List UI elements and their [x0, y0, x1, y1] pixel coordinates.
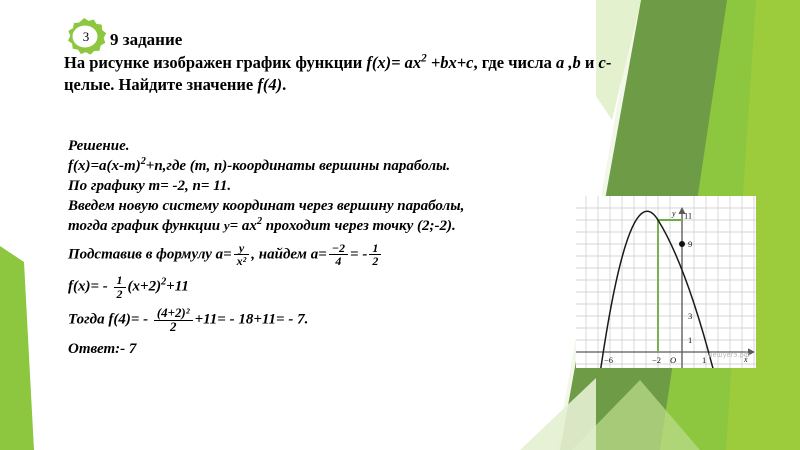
solution-line-4c: проходит через точку (2;-2).	[262, 218, 456, 234]
fraction-denominator: 2	[154, 320, 193, 334]
statement-dash: -	[606, 53, 612, 72]
fraction-y-over-x2: yx²	[234, 242, 250, 267]
solution-line-5a: Подставив в формулу a=	[68, 247, 232, 263]
fraction-denominator: 2	[369, 254, 381, 267]
statement-var-b: ,b	[564, 53, 581, 72]
badge-number: 3	[64, 17, 108, 57]
function-graph: 11 9 3 1 −6 −2 1 O y x решуегэ.рф	[576, 196, 756, 368]
solution-line-7a: Тогда f(4)= -	[68, 311, 152, 327]
solution-answer: Ответ:- 7	[68, 341, 578, 358]
solution-line-1b: +n,где (m, n)-координаты вершины парабол…	[146, 158, 450, 174]
solution-line-1a: f(x)=a(x-m)	[68, 158, 141, 174]
x-tick-1: 1	[702, 355, 706, 365]
fraction-numerator: y	[234, 242, 250, 254]
watermark: решуегэ.рф	[709, 352, 750, 359]
solution-line-2: По графику m= -2, n= 11.	[68, 178, 578, 195]
solution-line-7b: +11= - 18+11= - 7.	[195, 311, 309, 327]
solution-line-7: Тогда f(4)= - (4+2)²2+11= - 18+11= - 7.	[68, 307, 578, 334]
statement-line2-pre: целые. Найдите значение	[64, 75, 257, 94]
statement-formula-f: f(x)= ax	[366, 53, 421, 72]
statement-var-a: a	[556, 53, 564, 72]
y-tick-1: 1	[688, 335, 692, 345]
statement-text-post: , где числа	[474, 53, 556, 72]
fraction-numerator: 1	[369, 242, 381, 254]
fraction-numerator: (4+2)²	[154, 307, 193, 320]
solution-line-4b: = ax	[230, 218, 257, 234]
fraction-numerator: 1	[114, 274, 126, 286]
origin-label: O	[670, 355, 676, 365]
solution-line-6a: f(x)= -	[68, 279, 112, 295]
solution-heading: Решение.	[68, 138, 578, 155]
graph-svg: 11 9 3 1 −6 −2 1 O y x	[576, 196, 756, 368]
fraction-1-over-2: 12	[369, 242, 381, 267]
y-axis-label: y	[671, 209, 676, 218]
solution-line-6: f(x)= - 12(x+2)2+11	[68, 274, 578, 299]
statement-line2-formula: f(4)	[257, 75, 282, 94]
x-tick-minus6: −6	[604, 355, 613, 365]
solution-block: Решение. f(x)=a(x-m)2+n,где (m, n)-коорд…	[68, 138, 578, 361]
fraction-minus2-over-4: −24	[329, 242, 348, 267]
statement-conjunction: и	[581, 53, 599, 72]
slide-number-badge: 3	[64, 17, 108, 57]
fraction-half: 12	[114, 274, 126, 299]
point-0-9	[679, 241, 685, 247]
problem-statement: На рисунке изображен график функции f(x)…	[64, 52, 684, 96]
solution-line-5b: , найдем a=	[251, 247, 326, 263]
statement-text-pre: На рисунке изображен график функции	[64, 53, 366, 72]
statement-formula-mid: +bx+c	[427, 53, 474, 72]
y-tick-3: 3	[688, 311, 692, 321]
page-title: 9 задание	[110, 30, 182, 50]
fraction-denominator: 2	[114, 287, 126, 300]
solution-line-5c: = -	[350, 247, 367, 263]
slide-canvas: 3 9 задание На рисунке изображен график …	[0, 0, 800, 450]
y-tick-11: 11	[684, 211, 692, 221]
x-tick-minus2: −2	[652, 355, 661, 365]
solution-line-6b: (x+2)	[128, 279, 162, 295]
statement-var-c: c	[599, 53, 606, 72]
y-tick-9: 9	[688, 239, 692, 249]
solution-line-4a: тогда график функции	[68, 218, 224, 234]
solution-line-5: Подставив в формулу a=yx², найдем a=−24=…	[68, 242, 578, 267]
solution-line-4: тогда график функции y= ax2 проходит чер…	[68, 218, 578, 235]
solution-line-1: f(x)=a(x-m)2+n,где (m, n)-координаты вер…	[68, 158, 578, 175]
solution-line-3: Введем новую систему координат через вер…	[68, 198, 578, 215]
fraction-4plus2-squared-over-2: (4+2)²2	[154, 307, 193, 334]
solution-line-6c: +11	[166, 279, 189, 295]
statement-line2-end: .	[282, 75, 286, 94]
fraction-denominator: x²	[234, 254, 250, 267]
fraction-denominator: 4	[329, 254, 348, 267]
fraction-numerator: −2	[329, 242, 348, 254]
